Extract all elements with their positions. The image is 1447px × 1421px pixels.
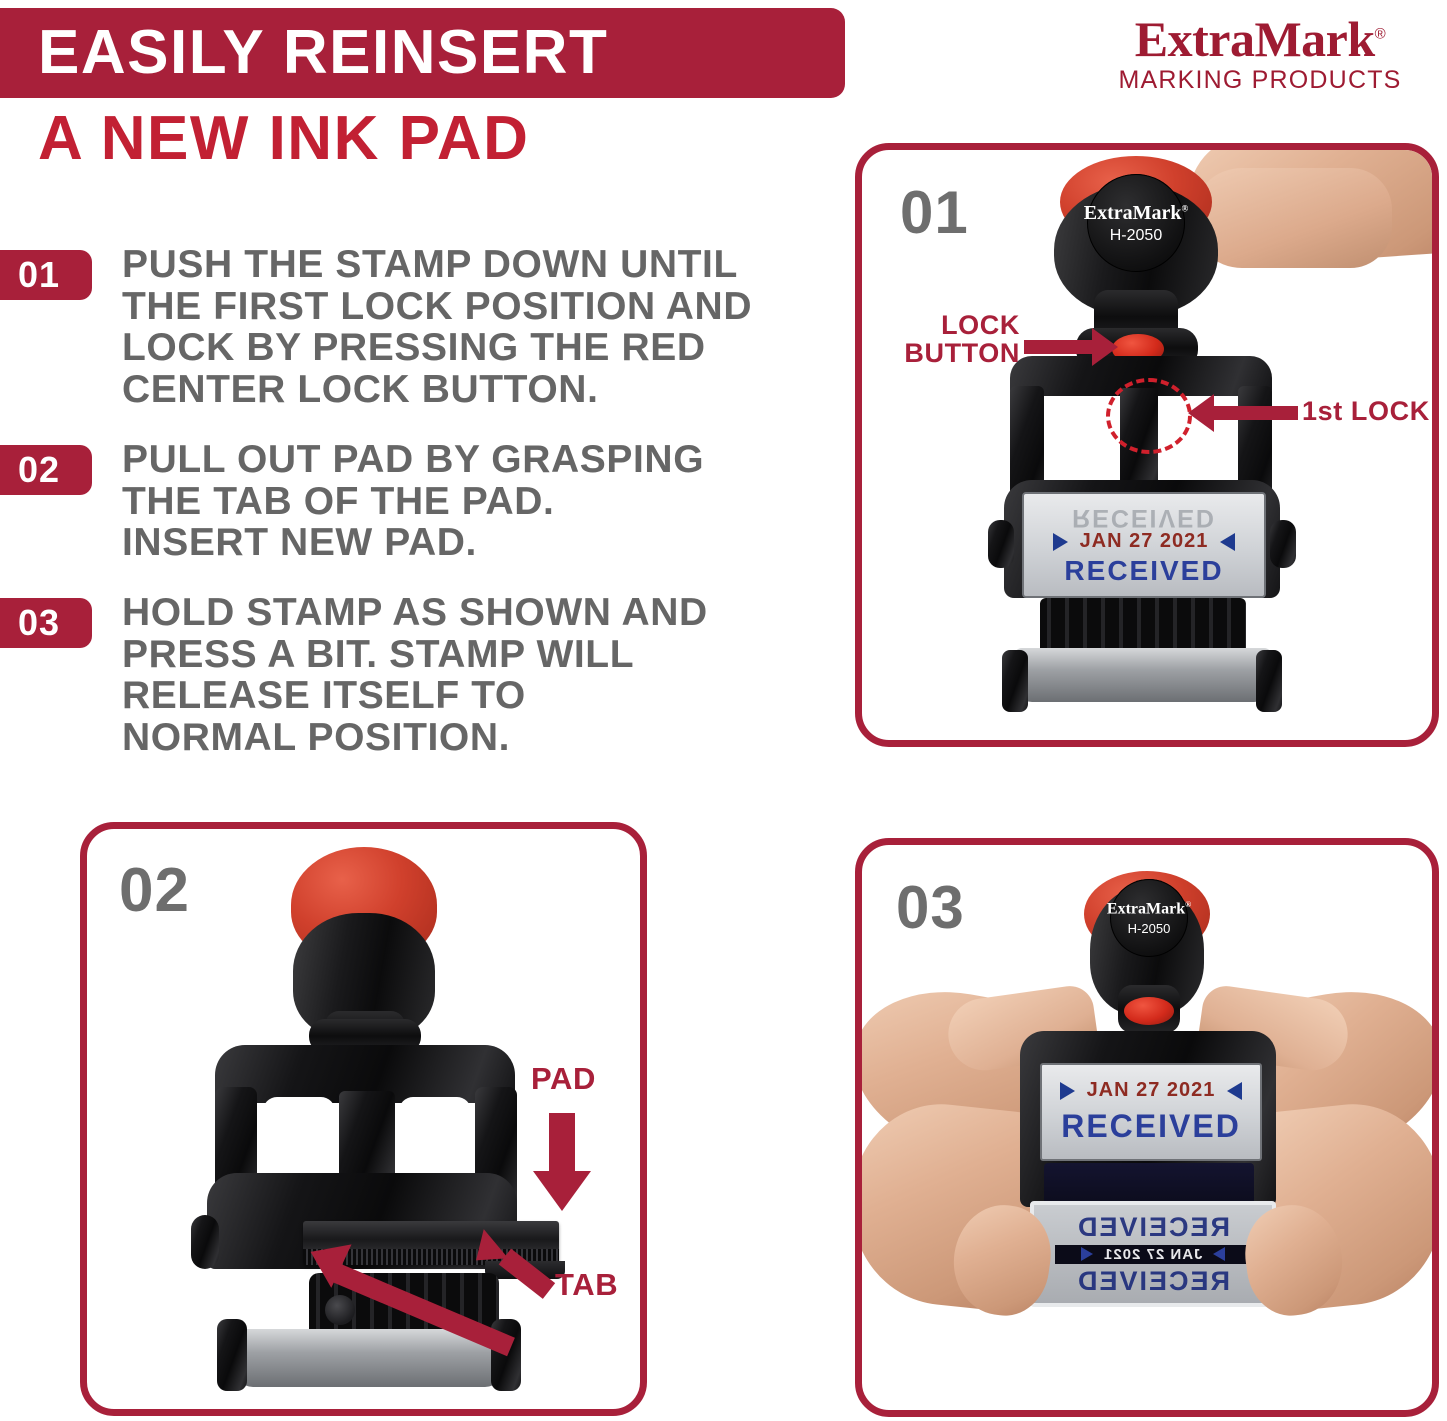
base-foot-left [1002, 650, 1028, 712]
logo-brand-text: ExtraMark [1135, 11, 1375, 67]
base-foot-left [217, 1319, 247, 1391]
disc-brand-text: ExtraMark® [1084, 203, 1189, 223]
triangle-left-icon [1213, 1247, 1225, 1261]
thumb [1192, 168, 1392, 268]
panel-number-label: 03 [896, 873, 965, 942]
stamp-label-plate: JAN 27 2021 RECEIVED [1040, 1063, 1262, 1161]
stamp-die-face: RECEIVED JAN 27 2021 RECEIVED [1030, 1201, 1276, 1307]
page-title-line2: A NEW INK PAD [38, 108, 529, 170]
annotation-arrow-pad-shaft [549, 1113, 575, 1175]
disc-brand-text: ExtraMark® [1107, 901, 1191, 917]
plate-date-row: JAN 27 2021 [1024, 530, 1264, 553]
knob-brand-disc: ExtraMark® H-2050 [1110, 879, 1188, 957]
housing-ear-left [191, 1215, 219, 1269]
annotation-lock-button: LOCK BUTTON [870, 312, 1020, 367]
step-number-badge: 01 [0, 250, 92, 300]
step-text: HOLD STAMP AS SHOWN AND PRESS A BIT. STA… [122, 592, 708, 759]
annotation-arrow-first-lock [1212, 406, 1298, 420]
die-date-strip: JAN 27 2021 [1055, 1245, 1250, 1264]
plate-date-row: JAN 27 2021 [1042, 1079, 1260, 1102]
panel-number-label: 01 [900, 178, 969, 247]
step-number-badge: 03 [0, 598, 92, 648]
step-text: PUSH THE STAMP DOWN UNTIL THE FIRST LOCK… [122, 244, 752, 411]
panel-number-label: 02 [119, 855, 190, 926]
step-text: PULL OUT PAD BY GRASPING THE TAB OF THE … [122, 439, 704, 564]
disc-model-text: H-2050 [1128, 922, 1171, 935]
arrow-head-left-icon [1188, 394, 1214, 432]
photo-panel-step-02: 02 PAD TAB [80, 822, 647, 1416]
plate-date-text: JAN 27 2021 [1087, 1079, 1216, 1102]
annotation-first-lock: 1st LOCK [1302, 398, 1430, 426]
registered-mark-icon: ® [1185, 900, 1191, 909]
date-dials [1040, 598, 1246, 654]
annotation-tab: TAB [555, 1269, 618, 1301]
plate-word-text: RECEIVED [1061, 1108, 1241, 1145]
triangle-left-icon [1227, 1082, 1242, 1100]
brand-logo: ExtraMark® MARKING PRODUCTS [1095, 14, 1425, 95]
plate-ghost-text: RECEIVED [1072, 503, 1216, 532]
stamp-label-plate: RECEIVED JAN 27 2021 RECEIVED [1022, 492, 1266, 598]
die-word-top: RECEIVED [1076, 1212, 1230, 1243]
step-number-badge: 02 [0, 445, 92, 495]
triangle-right-icon [1081, 1247, 1093, 1261]
triangle-right-icon [1060, 1082, 1075, 1100]
annotation-arrow-lock-button [1024, 340, 1094, 354]
die-date-text: JAN 27 2021 [1103, 1246, 1202, 1263]
photo-panel-step-01: 01 ExtraMark® H-2050 [855, 143, 1439, 747]
arrow-head-down-icon [533, 1171, 591, 1211]
registered-mark-icon: ® [1375, 25, 1386, 42]
housing-ear-right [1270, 520, 1296, 568]
plate-word-text: RECEIVED [1064, 555, 1223, 587]
logo-wordmark: ExtraMark® [1135, 14, 1385, 64]
annotation-pad: PAD [531, 1063, 596, 1095]
lock-button[interactable] [1124, 997, 1174, 1025]
dial-screw-icon [325, 1295, 355, 1325]
logo-tagline: MARKING PRODUCTS [1095, 66, 1425, 95]
triangle-left-icon [1220, 533, 1235, 551]
list-item: 02 PULL OUT PAD BY GRASPING THE TAB OF T… [0, 445, 830, 564]
plate-date-text: JAN 27 2021 [1080, 530, 1209, 553]
first-lock-highlight-circle [1106, 378, 1192, 454]
knob-brand-disc: ExtraMark® H-2050 [1087, 174, 1185, 272]
list-item: 01 PUSH THE STAMP DOWN UNTIL THE FIRST L… [0, 250, 830, 411]
list-item: 03 HOLD STAMP AS SHOWN AND PRESS A BIT. … [0, 598, 830, 759]
triangle-right-icon [1053, 533, 1068, 551]
housing-ear-left [988, 520, 1014, 568]
base-foot-right [1256, 650, 1282, 712]
page-title-line1: EASILY REINSERT [38, 22, 608, 84]
disc-model-text: H-2050 [1110, 228, 1162, 244]
instruction-list: 01 PUSH THE STAMP DOWN UNTIL THE FIRST L… [0, 250, 830, 793]
stamp-base [1014, 648, 1272, 702]
header-banner: EASILY REINSERT [0, 8, 845, 98]
die-word-bottom: RECEIVED [1076, 1266, 1230, 1297]
registered-mark-icon: ® [1182, 203, 1189, 213]
photo-panel-step-03: 03 ExtraMark® H-2050 JAN 27 2021 [855, 838, 1439, 1417]
arrow-head-right-icon [1092, 328, 1118, 366]
